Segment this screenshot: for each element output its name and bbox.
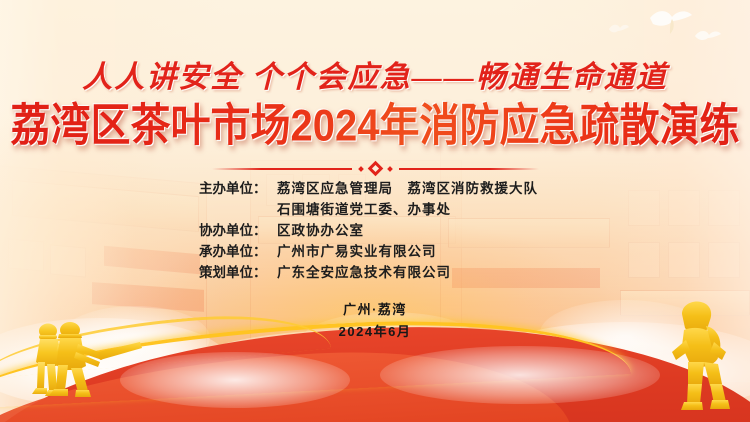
decorative-divider	[0, 163, 750, 174]
organizer-label: 承办单位：	[199, 241, 277, 262]
poster-canvas: 人人讲安全 个个会应急——畅通生命通道 荔湾区茶叶市场2024年消防应急疏散演练…	[0, 0, 750, 422]
organizer-value: 区政协办公室	[277, 220, 364, 241]
dove-icon-large	[648, 6, 694, 36]
divider-dot-left	[358, 166, 364, 172]
organizer-row: 策划单位： 广东全安应急技术有限公司	[199, 262, 551, 283]
poster-main-title: 荔湾区茶叶市场2024年消防应急疏散演练	[0, 100, 750, 152]
divider-diamond-icon	[367, 161, 383, 177]
poster-subtitle: 人人讲安全 个个会应急——畅通生命通道	[0, 52, 750, 96]
organizer-row: 主办单位： 石围塘街道党工委、办事处	[199, 199, 551, 220]
organizer-label: 主办单位：	[199, 178, 277, 199]
organizer-value: 广东全安应急技术有限公司	[277, 262, 451, 283]
organizer-value: 石围塘街道党工委、办事处	[277, 199, 451, 220]
organizer-value: 荔湾区应急管理局 荔湾区消防救援大队	[277, 178, 538, 199]
divider-dot-right	[387, 166, 393, 172]
location-text: 广州·荔湾	[0, 299, 750, 321]
organizers-block: 主办单位： 荔湾区应急管理局 荔湾区消防救援大队 主办单位： 石围塘街道党工委、…	[0, 178, 750, 283]
organizer-value: 广州市广易实业有限公司	[277, 241, 437, 262]
dove-icon-small	[694, 28, 722, 46]
organizer-row: 协办单位： 区政协办公室	[199, 220, 551, 241]
organizer-label: 策划单位：	[199, 262, 277, 283]
divider-line-right	[399, 168, 539, 170]
organizer-row: 主办单位： 荔湾区应急管理局 荔湾区消防救援大队	[199, 178, 551, 199]
organizer-label: 协办单位：	[199, 220, 277, 241]
dove-icon-faint	[608, 22, 630, 36]
location-date-block: 广州·荔湾 2024年6月	[0, 299, 750, 343]
organizer-row: 承办单位： 广州市广易实业有限公司	[199, 241, 551, 262]
date-text: 2024年6月	[0, 321, 750, 343]
divider-line-left	[212, 168, 352, 170]
